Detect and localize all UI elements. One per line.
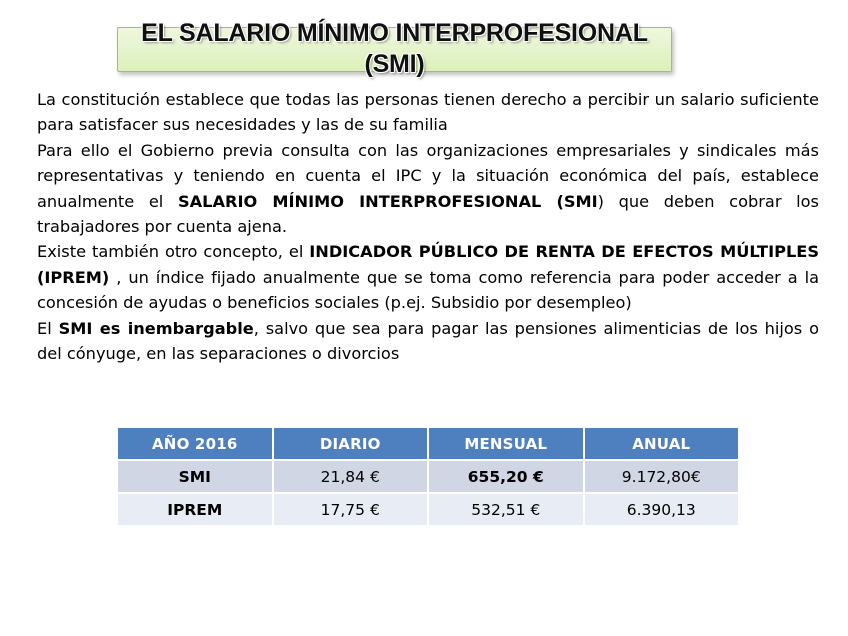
paragraph-inembargable: El SMI es inembargable, salvo que sea pa…: [37, 316, 819, 367]
paragraph-iprem: Existe también otro concepto, el INDICAD…: [37, 239, 819, 315]
cell-iprem-label: IPREM: [118, 494, 272, 525]
cell-smi-mensual: 655,20 €: [429, 461, 583, 492]
body-copy: La constitución establece que todas las …: [37, 87, 819, 366]
title-banner: EL SALARIO MÍNIMO INTERPROFESIONAL (SMI): [117, 27, 672, 72]
page-title-line-1: EL SALARIO MÍNIMO INTERPROFESIONAL: [141, 19, 648, 47]
cell-iprem-mensual: 532,51 €: [429, 494, 583, 525]
paragraph-constitucion-text: La constitución establece que todas las …: [37, 90, 819, 134]
table-row: SMI 21,84 € 655,20 € 9.172,80€: [118, 461, 738, 492]
column-header-mensual: MENSUAL: [429, 428, 583, 459]
cell-iprem-anual: 6.390,13: [585, 494, 739, 525]
column-header-anual: ANUAL: [585, 428, 739, 459]
table-body: SMI 21,84 € 655,20 € 9.172,80€ IPREM 17,…: [118, 461, 738, 525]
paragraph-iprem-text-a: Existe también otro concepto, el: [37, 242, 309, 261]
column-header-diario: DIARIO: [274, 428, 428, 459]
paragraph-iprem-text-b: , un índice fijado anualmente que se tom…: [37, 268, 819, 312]
paragraph-gobierno-emphasis: SALARIO MÍNIMO INTERPROFESIONAL (SMI: [178, 192, 598, 211]
paragraph-gobierno: Para ello el Gobierno previa consulta co…: [37, 138, 819, 240]
cell-iprem-diario: 17,75 €: [274, 494, 428, 525]
table-row: IPREM 17,75 € 532,51 € 6.390,13: [118, 494, 738, 525]
paragraph-inembargable-text-a: El: [37, 319, 59, 338]
column-header-anio: AÑO 2016: [118, 428, 272, 459]
page-title-line-2: (SMI): [364, 50, 424, 78]
smi-iprem-table: AÑO 2016 DIARIO MENSUAL ANUAL SMI 21,84 …: [116, 426, 740, 527]
cell-smi-label: SMI: [118, 461, 272, 492]
paragraph-constitucion: La constitución establece que todas las …: [37, 87, 819, 138]
cell-smi-anual: 9.172,80€: [585, 461, 739, 492]
table-header: AÑO 2016 DIARIO MENSUAL ANUAL: [118, 428, 738, 459]
page-title: EL SALARIO MÍNIMO INTERPROFESIONAL (SMI): [117, 18, 672, 80]
cell-smi-diario: 21,84 €: [274, 461, 428, 492]
table-header-row: AÑO 2016 DIARIO MENSUAL ANUAL: [118, 428, 738, 459]
paragraph-inembargable-emphasis: SMI es inembargable: [59, 319, 254, 338]
